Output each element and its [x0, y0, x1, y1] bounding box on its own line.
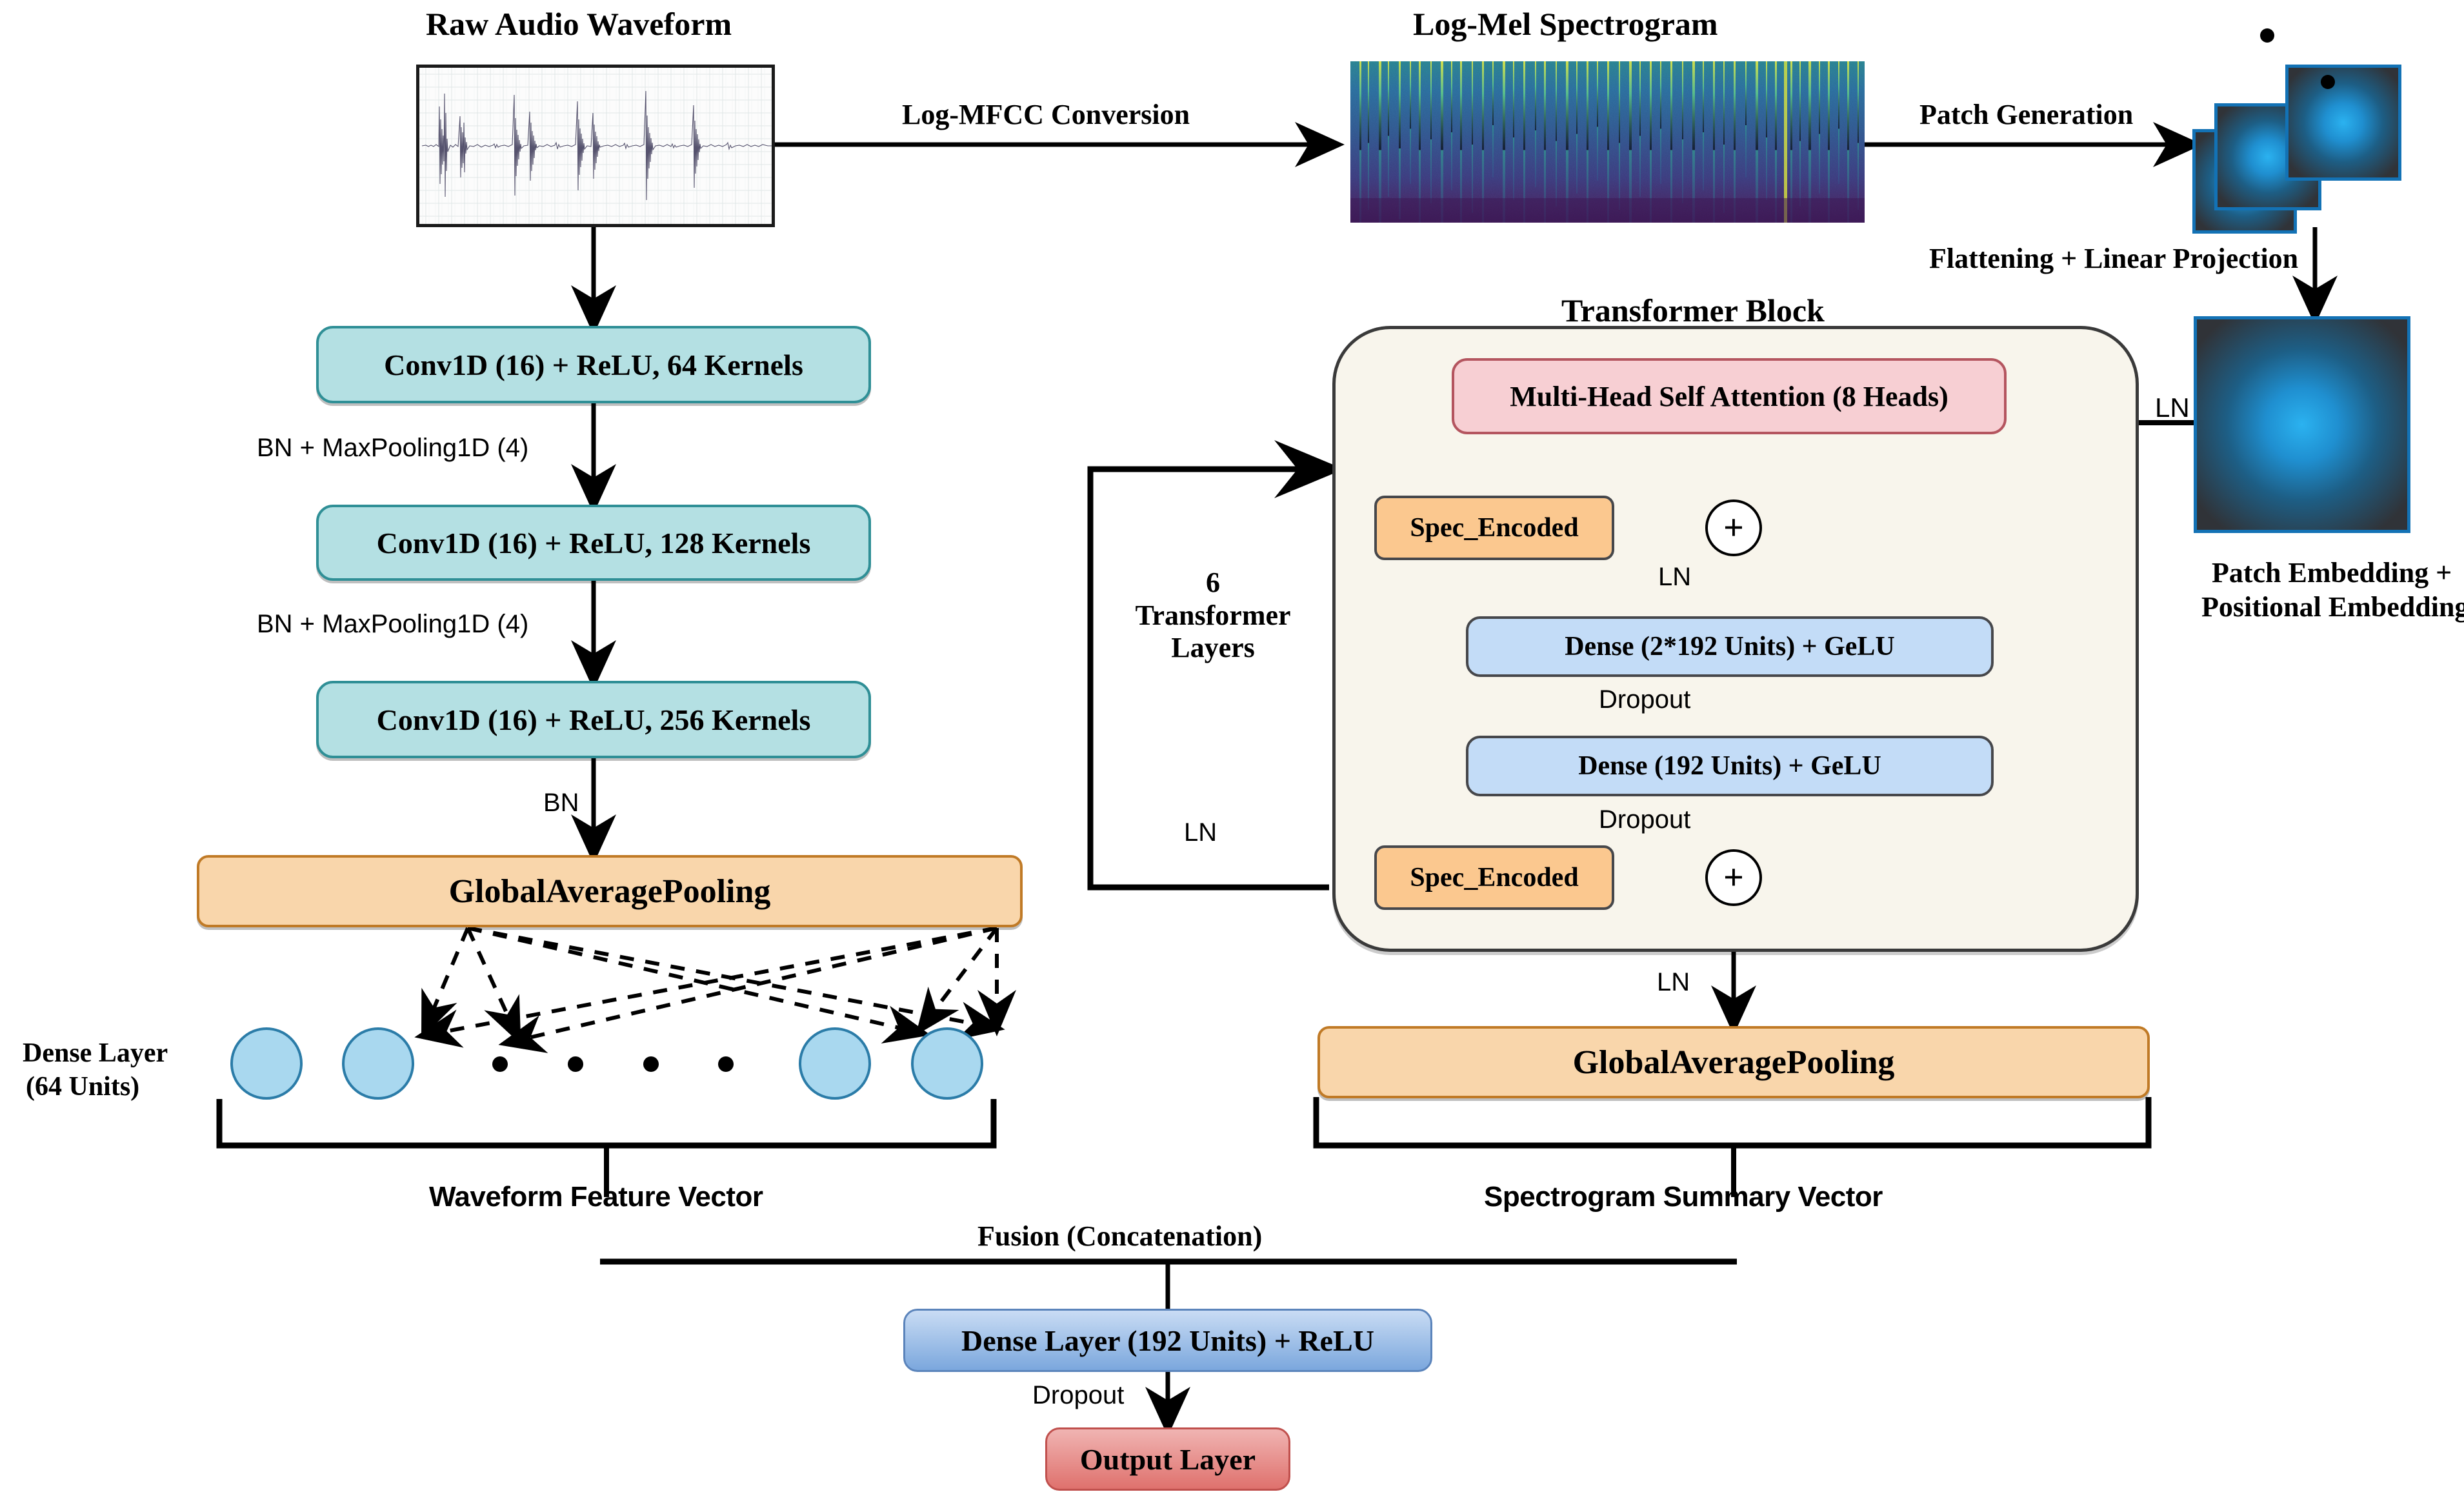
conv1d-block-128[interactable]: Conv1D (16) + ReLU, 128 Kernels — [316, 505, 871, 581]
arrow-label-patch-generation: Patch Generation — [1919, 98, 2133, 131]
dense-ellipsis-dot — [492, 1056, 508, 1072]
patch-embedding-caption-line1: Patch Embedding + — [2212, 556, 2452, 589]
multi-head-self-attention-label: Multi-Head Self Attention (8 Heads) — [1510, 380, 1948, 413]
page-title-transformer-block: Transformer Block — [1561, 292, 1825, 329]
arrow-label-flattening: Flattening + Linear Projection — [1929, 242, 2298, 275]
ln-label-transformer-output: LN — [1657, 968, 1690, 997]
dense-ellipsis-dot — [718, 1056, 734, 1072]
transformer-loop-word-layers: Layers — [1110, 632, 1316, 665]
global-average-pooling-waveform[interactable]: GlobalAveragePooling — [197, 855, 1023, 927]
patch-embedding-image — [2194, 316, 2410, 533]
edge-label-bn-maxpool-1: BN + MaxPooling1D (4) — [257, 434, 528, 463]
residual-add-node-top: + — [1705, 499, 1762, 556]
arrow-label-log-mfcc: Log-MFCC Conversion — [902, 98, 1190, 131]
fusion-dense-192-relu-label: Dense Layer (192 Units) + ReLU — [961, 1324, 1374, 1358]
conv1d-block-256-label: Conv1D (16) + ReLU, 256 Kernels — [377, 703, 811, 737]
page-title-log-mel: Log-Mel Spectrogram — [1413, 5, 1718, 43]
multi-head-self-attention-block[interactable]: Multi-Head Self Attention (8 Heads) — [1452, 358, 2007, 434]
conv1d-block-256[interactable]: Conv1D (16) + ReLU, 256 Kernels — [316, 681, 871, 758]
edge-label-bn-maxpool-2: BN + MaxPooling1D (4) — [257, 610, 528, 639]
dense-2x192-gelu-label: Dense (2*192 Units) + GeLU — [1565, 631, 1895, 662]
dense-unit-node[interactable] — [342, 1027, 414, 1100]
waveform-feature-vector-label: Waveform Feature Vector — [429, 1181, 763, 1213]
spec-encoded-block-top[interactable]: Spec_Encoded — [1374, 496, 1614, 560]
dense-unit-node[interactable] — [799, 1027, 871, 1100]
transformer-loop-count: 6 — [1110, 567, 1316, 600]
patch-embedding-caption-line2: Positional Embedding — [2201, 590, 2464, 623]
spec-encoded-top-label: Spec_Encoded — [1410, 512, 1578, 543]
dense-unit-node[interactable] — [911, 1027, 983, 1100]
conv1d-block-64[interactable]: Conv1D (16) + ReLU, 64 Kernels — [316, 326, 871, 403]
fusion-label: Fusion (Concatenation) — [977, 1220, 1262, 1253]
spec-encoded-bottom-label: Spec_Encoded — [1410, 862, 1578, 893]
transformer-loop-label: 6 Transformer Layers — [1110, 567, 1316, 665]
edge-label-bn-3: BN — [543, 789, 579, 818]
ln-label-patch-to-transformer: LN — [2155, 392, 2190, 423]
patch-embedding-glow — [2197, 319, 2407, 530]
spectrogram-patch-1 — [2285, 65, 2401, 181]
dense-layer-caption-line2: (64 Units) — [26, 1071, 139, 1102]
dense-192-gelu-label: Dense (192 Units) + GeLU — [1578, 751, 1881, 781]
patch-ellipsis-dot-upper — [2260, 28, 2274, 43]
page-title-raw-audio: Raw Audio Waveform — [426, 5, 732, 43]
spectrogram-summary-vector-label: Spectrogram Summary Vector — [1484, 1181, 1883, 1213]
ln-label-loop: LN — [1184, 818, 1217, 847]
conv1d-block-64-label: Conv1D (16) + ReLU, 64 Kernels — [384, 348, 803, 382]
dense-2x192-gelu-block[interactable]: Dense (2*192 Units) + GeLU — [1466, 616, 1994, 677]
plus-symbol: + — [1723, 507, 1744, 549]
global-average-pooling-waveform-label: GlobalAveragePooling — [449, 872, 771, 911]
patch-glow — [2289, 68, 2398, 177]
log-mel-spectrogram-image — [1350, 61, 1865, 223]
global-average-pooling-spectrogram[interactable]: GlobalAveragePooling — [1317, 1026, 2150, 1098]
dense-192-gelu-block[interactable]: Dense (192 Units) + GeLU — [1466, 736, 1994, 796]
dense-unit-node[interactable] — [230, 1027, 303, 1100]
patch-ellipsis-dot-lower — [2321, 75, 2335, 89]
transformer-loop-word-transformer: Transformer — [1110, 600, 1316, 632]
dense-layer-caption-line1: Dense Layer — [23, 1038, 168, 1069]
dense-ellipsis-dot — [568, 1056, 583, 1072]
spectrogram-plot — [1350, 61, 1865, 223]
conv1d-block-128-label: Conv1D (16) + ReLU, 128 Kernels — [377, 526, 811, 560]
edge-label-dropout-fusion: Dropout — [1032, 1381, 1124, 1410]
residual-add-node-bottom: + — [1705, 849, 1762, 906]
global-average-pooling-spectrogram-label: GlobalAveragePooling — [1573, 1043, 1895, 1082]
raw-audio-waveform-image — [416, 65, 775, 227]
ln-label-after-add-top: LN — [1658, 563, 1691, 592]
output-layer-block[interactable]: Output Layer — [1045, 1427, 1290, 1491]
spec-encoded-block-bottom[interactable]: Spec_Encoded — [1374, 845, 1614, 910]
plus-symbol: + — [1723, 857, 1744, 898]
diagram-canvas: Raw Audio Waveform Log-MFCC Conversion L… — [0, 0, 2464, 1512]
edge-label-dropout-2: Dropout — [1599, 805, 1690, 834]
waveform-plot — [419, 68, 772, 224]
fusion-dense-192-relu-block[interactable]: Dense Layer (192 Units) + ReLU — [903, 1309, 1432, 1372]
dense-ellipsis-dot — [643, 1056, 659, 1072]
edge-label-dropout-1: Dropout — [1599, 685, 1690, 714]
output-layer-label: Output Layer — [1080, 1442, 1256, 1477]
